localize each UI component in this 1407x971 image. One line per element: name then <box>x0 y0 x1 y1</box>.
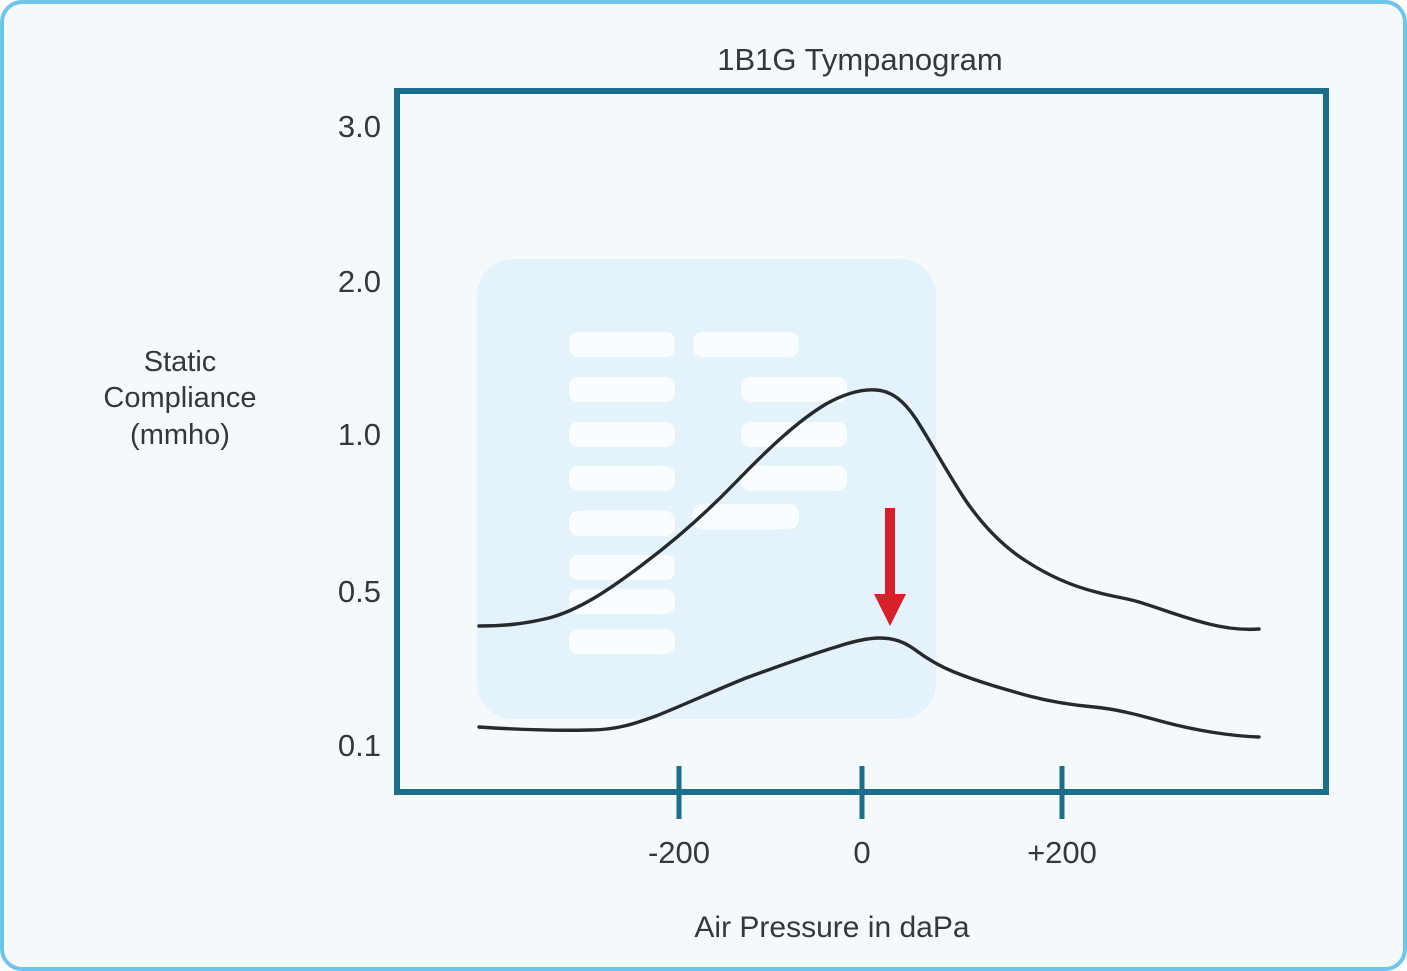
watermark-bar <box>569 466 675 491</box>
chart-title: 1B1G Tympanogram <box>717 42 1002 77</box>
watermark-bar <box>569 629 675 654</box>
watermark-bar <box>569 511 675 536</box>
watermark-placeholder <box>477 259 936 719</box>
y-tick-label-3: 3.0 <box>338 109 381 144</box>
watermark-bar <box>569 377 675 402</box>
y-axis-label-line2: Compliance <box>103 382 256 414</box>
x-axis-label: Air Pressure in daPa <box>694 911 969 944</box>
y-tick-label-05: 0.5 <box>338 574 381 609</box>
watermark-bar <box>693 332 799 357</box>
tympanogram-figure: 1B1G Tympanogram 3.0 2.0 1.0 0.5 0.1 Sta… <box>0 0 1407 971</box>
watermark-bar <box>741 466 847 491</box>
x-tick-label-neg200: -200 <box>648 835 710 870</box>
watermark-bar <box>569 555 675 580</box>
watermark-bar <box>741 377 847 402</box>
watermark-bar <box>569 332 675 357</box>
y-axis-label-line1: Static <box>144 346 217 378</box>
x-tick-label-0: 0 <box>853 835 870 870</box>
tympanogram-chart: 1B1G Tympanogram 3.0 2.0 1.0 0.5 0.1 Sta… <box>4 4 1407 971</box>
y-tick-label-2: 2.0 <box>338 264 381 299</box>
y-axis-label-line3: (mmho) <box>130 419 230 451</box>
y-tick-label-1: 1.0 <box>338 417 381 452</box>
watermark-bar <box>569 422 675 447</box>
x-tick-label-pos200: +200 <box>1027 835 1097 870</box>
y-tick-label-01: 0.1 <box>338 728 381 763</box>
